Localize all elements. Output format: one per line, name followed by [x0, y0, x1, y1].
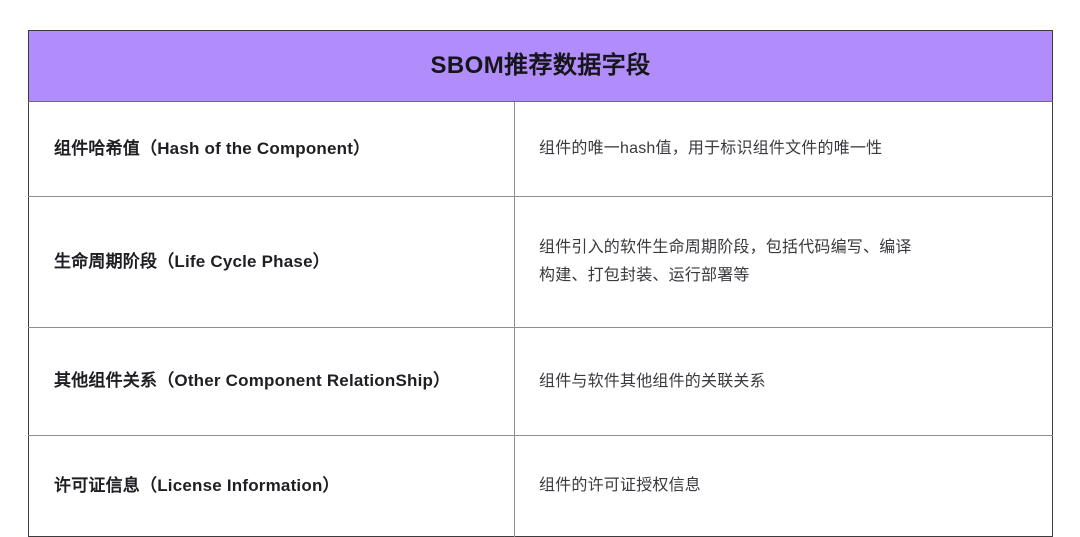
- description-line: 构建、打包封装、运行部署等: [539, 262, 1030, 290]
- page-root: SBOM推荐数据字段 组件哈希值（Hash of the Component） …: [0, 0, 1080, 484]
- field-description-cell: 组件与软件其他组件的关联关系: [515, 328, 1053, 436]
- table-title-cell: SBOM推荐数据字段: [29, 31, 1053, 102]
- field-name-cell: 生命周期阶段（Life Cycle Phase）: [29, 197, 515, 328]
- description-line: 组件与软件其他组件的关联关系: [539, 368, 1030, 396]
- description-line: 组件引入的软件生命周期阶段，包括代码编写、编译: [539, 234, 1030, 262]
- table-row: 生命周期阶段（Life Cycle Phase） 组件引入的软件生命周期阶段，包…: [29, 197, 1053, 328]
- field-description-cell: 组件引入的软件生命周期阶段，包括代码编写、编译 构建、打包封装、运行部署等: [515, 197, 1053, 328]
- description-line: 组件的许可证授权信息: [539, 472, 1030, 500]
- field-name-cell: 许可证信息（License Information）: [29, 436, 515, 537]
- sbom-recommended-fields-table: SBOM推荐数据字段 组件哈希值（Hash of the Component） …: [28, 30, 1053, 537]
- description-line: 组件的唯一hash值，用于标识组件文件的唯一性: [539, 135, 1030, 163]
- table-row: 组件哈希值（Hash of the Component） 组件的唯一hash值，…: [29, 102, 1053, 197]
- table-row: 许可证信息（License Information） 组件的许可证授权信息: [29, 436, 1053, 537]
- table-header-row: SBOM推荐数据字段: [29, 31, 1053, 102]
- field-name-cell: 其他组件关系（Other Component RelationShip）: [29, 328, 515, 436]
- field-description-cell: 组件的唯一hash值，用于标识组件文件的唯一性: [515, 102, 1053, 197]
- field-name-cell: 组件哈希值（Hash of the Component）: [29, 102, 515, 197]
- table-row: 其他组件关系（Other Component RelationShip） 组件与…: [29, 328, 1053, 436]
- field-description-cell: 组件的许可证授权信息: [515, 436, 1053, 537]
- page-title: SBOM推荐数据字段: [431, 52, 651, 79]
